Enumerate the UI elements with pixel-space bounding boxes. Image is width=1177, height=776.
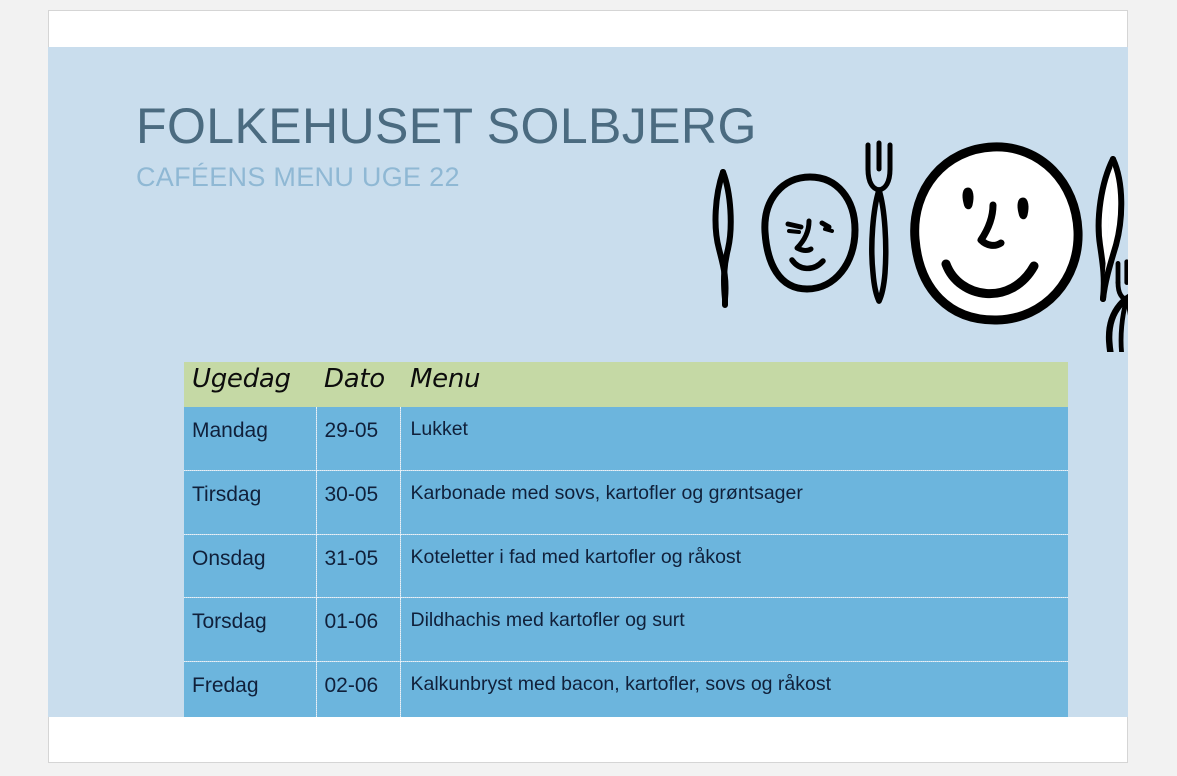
menu-table-header: Ugedag Dato Menu <box>184 362 1068 407</box>
column-header-dato: Dato <box>316 362 400 407</box>
column-header-ugedag: Ugedag <box>184 362 316 407</box>
face-small-right-icon <box>1109 291 1128 352</box>
fork-center-left-icon <box>868 143 890 301</box>
face-large-center-icon <box>915 147 1078 320</box>
knife-left-icon <box>716 172 731 305</box>
fork-right-icon <box>1118 262 1128 352</box>
table-row: Mandag 29-05 Lukket <box>184 407 1068 471</box>
cell-menu: Lukket <box>400 407 1068 471</box>
knife-right-icon <box>1099 159 1122 299</box>
cell-day: Tirsdag <box>184 471 316 535</box>
cell-menu: Kalkunbryst med bacon, kartofler, sovs o… <box>400 661 1068 717</box>
page-subtitle: CAFÉENS MENU UGE 22 <box>136 163 776 191</box>
cell-date: 02-06 <box>316 661 400 717</box>
table-row: Torsdag 01-06 Dildhachis med kartofler o… <box>184 598 1068 662</box>
cell-menu: Koteletter i fad med kartofler og råkost <box>400 534 1068 598</box>
table-row: Fredag 02-06 Kalkunbryst med bacon, kart… <box>184 661 1068 717</box>
face-small-left-icon <box>765 177 855 289</box>
table-row: Tirsdag 30-05 Karbonade med sovs, kartof… <box>184 471 1068 535</box>
table-header-row: Ugedag Dato Menu <box>184 362 1068 407</box>
cell-date: 30-05 <box>316 471 400 535</box>
cell-date: 01-06 <box>316 598 400 662</box>
cell-day: Fredag <box>184 661 316 717</box>
cell-menu: Karbonade med sovs, kartofler og grøntsa… <box>400 471 1068 535</box>
heading-block: FOLKEHUSET SOLBJERG CAFÉENS MENU UGE 22 <box>136 101 776 191</box>
column-header-menu: Menu <box>400 362 1068 407</box>
cell-day: Onsdag <box>184 534 316 598</box>
page-title: FOLKEHUSET SOLBJERG <box>136 101 776 152</box>
slide-content-area: FOLKEHUSET SOLBJERG CAFÉENS MENU UGE 22 <box>48 47 1128 717</box>
table-row: Onsdag 31-05 Koteletter i fad med kartof… <box>184 534 1068 598</box>
cell-date: 29-05 <box>316 407 400 471</box>
menu-table: Ugedag Dato Menu Mandag 29-05 Lukket Tir… <box>184 362 1068 717</box>
cell-day: Torsdag <box>184 598 316 662</box>
cell-date: 31-05 <box>316 534 400 598</box>
cell-menu: Dildhachis med kartofler og surt <box>400 598 1068 662</box>
menu-table-body: Mandag 29-05 Lukket Tirsdag 30-05 Karbon… <box>184 407 1068 717</box>
cell-day: Mandag <box>184 407 316 471</box>
menu-table-container: Ugedag Dato Menu Mandag 29-05 Lukket Tir… <box>184 362 1068 717</box>
